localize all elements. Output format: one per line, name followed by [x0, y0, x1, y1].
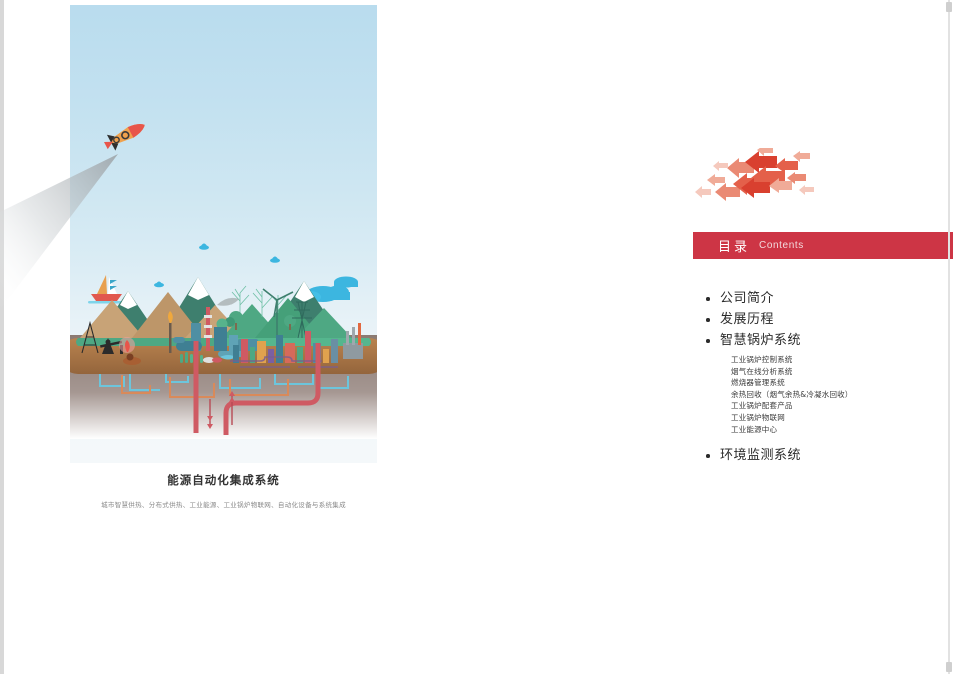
- contents-title-en: Contents: [759, 240, 804, 251]
- rocket-icon: [102, 117, 149, 154]
- factory-icon: [343, 323, 363, 359]
- bullet-icon: [706, 339, 710, 343]
- poster-title: 能源自动化集成系统: [70, 472, 377, 488]
- contents-subitem-1[interactable]: 工业锅炉控制系统: [731, 354, 955, 366]
- poster-illustration: [70, 5, 377, 463]
- contents-item-label: 智慧锅炉系统: [720, 333, 801, 348]
- contents-item-1[interactable]: 公司简介: [703, 288, 955, 309]
- left-gutter: [0, 0, 4, 674]
- sailboat-icon: [88, 275, 126, 304]
- contents-panel: 目录 Contents 公司简介发展历程智慧锅炉系统工业锅炉控制系统烟气在线分析…: [693, 0, 955, 674]
- cloud-icon: [154, 282, 164, 288]
- scrollbar-up-arrow[interactable]: [946, 2, 952, 12]
- contents-item-label: 发展历程: [720, 312, 774, 327]
- arrow-icon: [695, 186, 711, 198]
- cloud-icon: [270, 257, 280, 263]
- contents-subitem-2[interactable]: 烟气在线分析系统: [731, 366, 955, 378]
- contents-item-label: 环境监测系统: [720, 448, 801, 463]
- arrow-icon: [775, 158, 798, 173]
- arrow-icon: [713, 161, 728, 171]
- poster-subtitle: 城市智慧供热、分布式供热、工业能源、工业锅炉物联网、自动化设备与系统集成: [55, 499, 392, 509]
- arrow-cluster-logo: [693, 148, 818, 206]
- contents-item-2[interactable]: 发展历程: [703, 309, 955, 330]
- contents-subitem-4[interactable]: 余热回收（烟气余热&冷凝水回收）: [731, 389, 955, 401]
- arrow-icon: [793, 151, 810, 162]
- arrow-icon: [799, 185, 814, 195]
- contents-item-label: 公司简介: [720, 291, 774, 306]
- contents-title-cn: 目录: [718, 236, 750, 255]
- vertical-scrollbar[interactable]: [948, 0, 950, 674]
- contents-subitem-3[interactable]: 燃烧器管理系统: [731, 377, 955, 389]
- bullet-icon: [706, 454, 710, 458]
- list-spacer: [703, 438, 955, 445]
- arrow-icon: [707, 174, 725, 186]
- arrow-icon: [757, 148, 773, 156]
- contents-subitem-5[interactable]: 工业锅炉配套产品: [731, 400, 955, 412]
- contents-subitem-7[interactable]: 工业能源中心: [731, 424, 955, 436]
- bullet-icon: [706, 297, 710, 301]
- contents-banner: 目录 Contents: [693, 232, 953, 259]
- contents-item-4[interactable]: 环境监测系统: [703, 445, 955, 466]
- contents-sublist: 工业锅炉控制系统烟气在线分析系统燃烧器管理系统余热回收（烟气余热&冷凝水回收）工…: [703, 354, 955, 435]
- slide-page: 能源自动化集成系统 城市智慧供热、分布式供热、工业能源、工业锅炉物联网、自动化设…: [0, 0, 956, 674]
- bullet-icon: [706, 318, 710, 322]
- contents-item-3[interactable]: 智慧锅炉系统: [703, 330, 955, 351]
- energy-landscape-svg: [70, 5, 377, 463]
- contents-list: 公司简介发展历程智慧锅炉系统工业锅炉控制系统烟气在线分析系统燃烧器管理系统余热回…: [703, 288, 955, 466]
- contents-subitem-6[interactable]: 工业锅炉物联网: [731, 412, 955, 424]
- cloud-icon: [199, 244, 209, 250]
- scrollbar-down-arrow[interactable]: [946, 662, 952, 672]
